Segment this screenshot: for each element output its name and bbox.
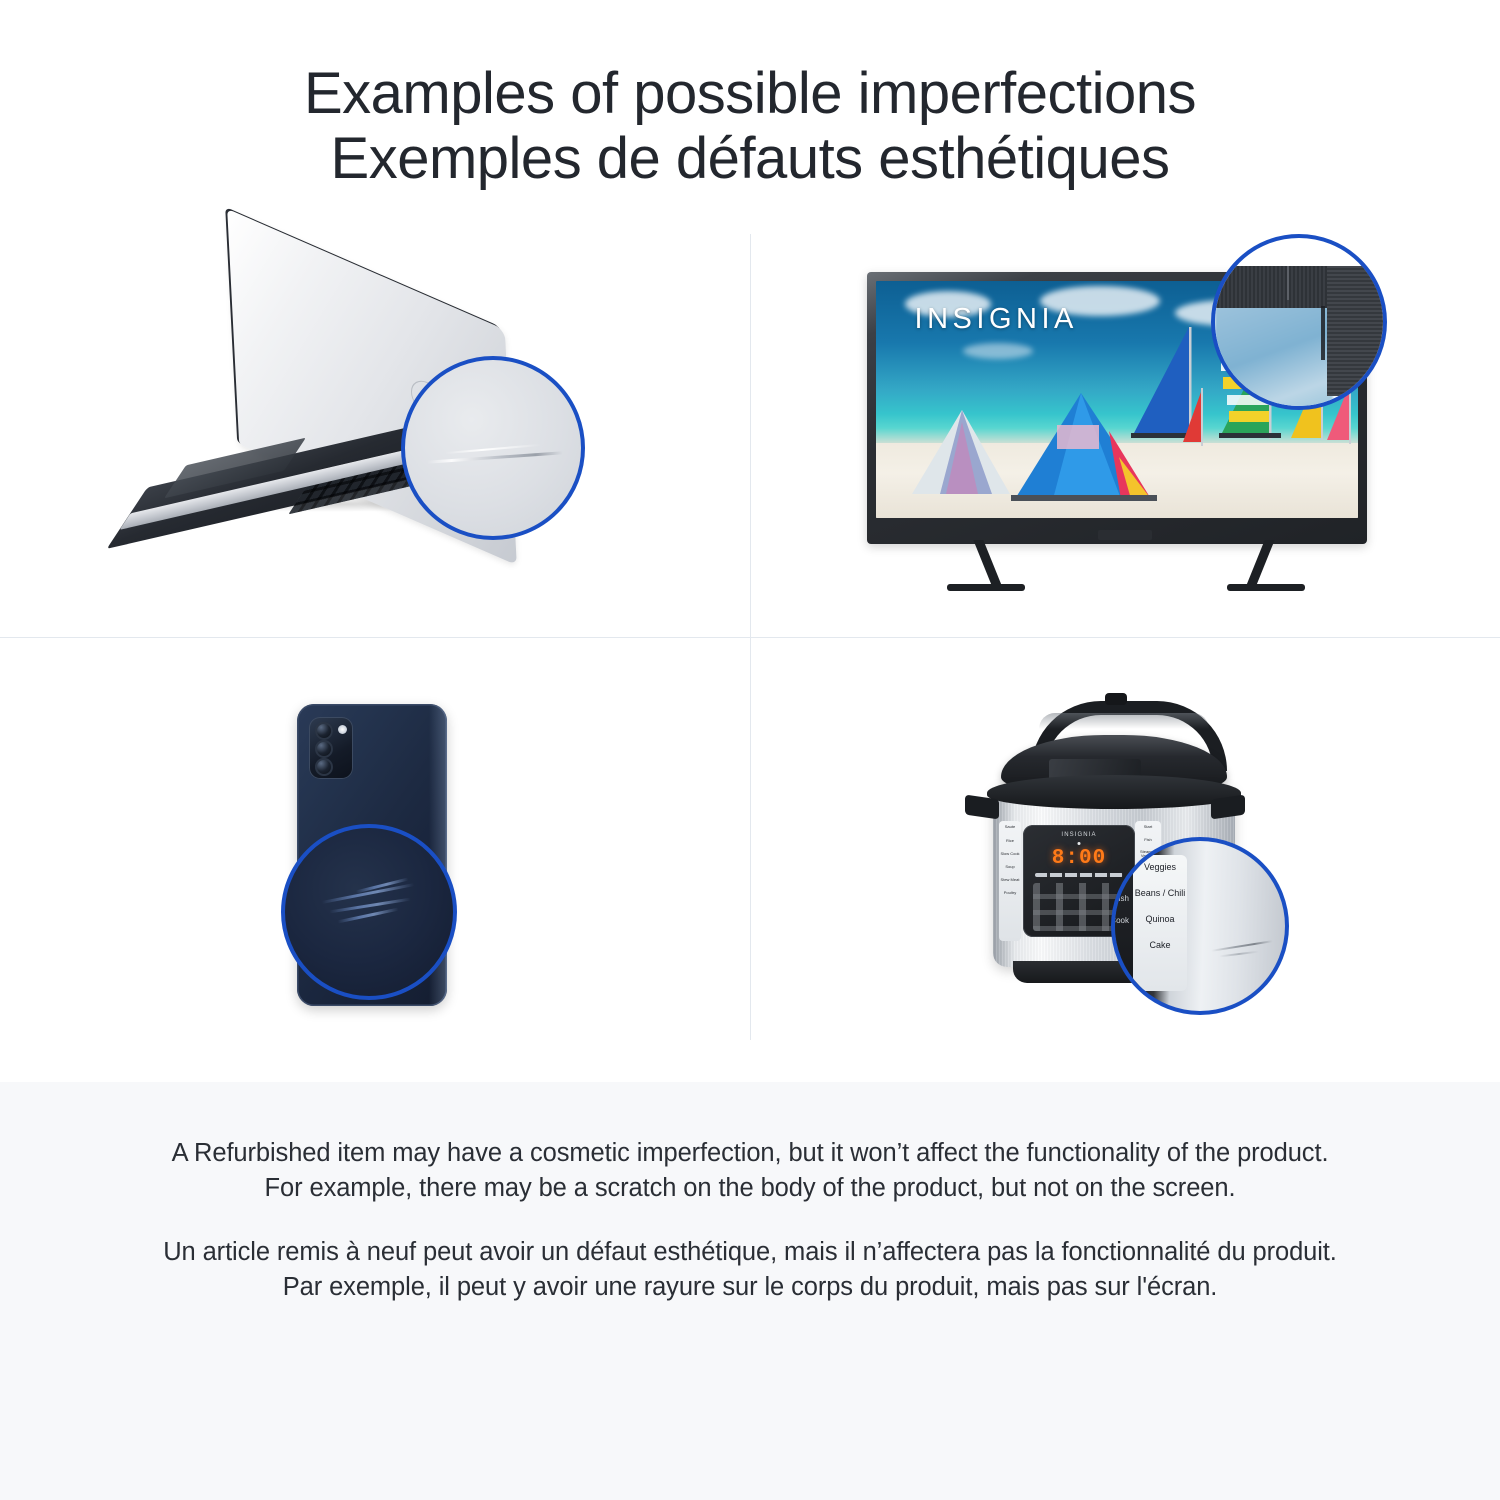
magnifier-circle-icon-pressure-cooker: Delay Fish Slow Cook Veggies Beans / Chi… — [1111, 837, 1289, 1015]
magnified-button: Veggies — [1133, 863, 1187, 873]
pressure-cooker-led-display: 8:00 — [1052, 847, 1106, 870]
cooker-button[interactable]: Saute — [999, 825, 1021, 829]
television-logo-nub — [1098, 530, 1152, 540]
magnifier-circle-icon-laptop — [401, 356, 585, 540]
pressure-cooker-side-handle-left — [965, 795, 999, 820]
smartphone-illustration — [265, 694, 485, 1024]
magnified-button: Beans / Chili — [1133, 889, 1187, 899]
pressure-cooker-rim — [987, 775, 1241, 809]
camera-lens-icon — [315, 722, 333, 740]
camera-lens-icon — [315, 758, 333, 776]
cooker-button[interactable]: Stew Meat — [999, 878, 1021, 882]
cooker-button[interactable]: Rice — [999, 839, 1021, 843]
cooker-button[interactable]: Slow Cook — [999, 852, 1021, 856]
pressure-cooker-indicator-light — [1078, 842, 1081, 845]
television-leg-left — [973, 540, 1002, 588]
page-title: Examples of possible imperfections Exemp… — [0, 62, 1500, 192]
pressure-cooker-magnified-buttons: Veggies Beans / Chili Quinoa Cake — [1133, 855, 1187, 991]
panel-pressure-cooker: Saute Rice Slow Cook Soup Stew Meat Poul… — [750, 637, 1500, 1082]
page-title-english: Examples of possible imperfections — [0, 62, 1500, 127]
panel-television: INSIGNIA — [750, 192, 1500, 637]
television-leg-right — [1245, 540, 1274, 588]
page-title-french: Exemples de défauts esthétiques — [0, 127, 1500, 192]
television-bezel-seam — [1287, 266, 1289, 300]
smartphone-scratch-mark — [337, 908, 398, 923]
footer-paragraph-french: Un article remis à neuf peut avoir un dé… — [150, 1235, 1350, 1304]
magnifier-circle-icon-smartphone — [281, 824, 457, 1000]
magnified-button: Cake — [1133, 941, 1187, 951]
television-foot-left — [947, 584, 1025, 591]
product-examples-grid: INSIGNIA — [0, 192, 1500, 1082]
pressure-cooker-scratch-mark — [1211, 941, 1273, 953]
pressure-cooker-illustration: Saute Rice Slow Cook Soup Stew Meat Poul… — [965, 689, 1285, 1029]
cooker-button[interactable]: Soup — [999, 865, 1021, 869]
panel-laptop — [0, 192, 750, 637]
pressure-cooker-scratch-mark — [1219, 951, 1259, 957]
grid-horizontal-divider — [0, 637, 1500, 638]
pressure-cooker-left-button-column[interactable]: Saute Rice Slow Cook Soup Stew Meat Poul… — [999, 821, 1021, 941]
television-foot-right — [1227, 584, 1305, 591]
panel-smartphone — [0, 637, 750, 1082]
pressure-cooker-brand: INSIGNIA — [1061, 832, 1096, 838]
imperfections-infographic: Examples of possible imperfections Exemp… — [0, 0, 1500, 1500]
television-magnified-screen — [1215, 300, 1333, 410]
television-bezel-scuff — [1321, 306, 1325, 360]
footer-description: A Refurbished item may have a cosmetic i… — [0, 1082, 1500, 1500]
cooker-button[interactable]: Start — [1135, 825, 1161, 829]
screen-cloud — [963, 343, 1033, 359]
footer-paragraph-english: A Refurbished item may have a cosmetic i… — [150, 1136, 1350, 1205]
camera-lens-icon — [315, 740, 333, 758]
screen-beach-tent-b — [1001, 391, 1181, 511]
smartphone-camera-module — [309, 717, 353, 779]
cooker-button[interactable]: Poultry — [999, 891, 1021, 895]
television-screen-brand: INSIGNIA — [915, 303, 1078, 336]
smartphone-scratch-mark — [329, 898, 410, 913]
television-magnified-bezel-right — [1327, 266, 1385, 396]
pressure-cooker-steam-vent-icon — [1105, 693, 1127, 705]
cooker-button[interactable]: Fish — [1135, 838, 1161, 842]
pressure-cooker-mode-strip — [1035, 873, 1123, 877]
pressure-cooker-magnified-left-labels: Delay Fish Slow Cook — [1111, 851, 1133, 1001]
magnified-button: Quinoa — [1133, 915, 1187, 925]
camera-flash-icon — [338, 725, 347, 734]
page-header: Examples of possible imperfections Exemp… — [0, 0, 1500, 192]
television-illustration: INSIGNIA — [855, 234, 1395, 594]
pressure-cooker-side-handle-right — [1211, 795, 1245, 820]
magnifier-circle-icon-television — [1211, 234, 1387, 410]
laptop-illustration — [115, 264, 635, 564]
magnified-label: Slow Cook — [1111, 910, 1129, 932]
